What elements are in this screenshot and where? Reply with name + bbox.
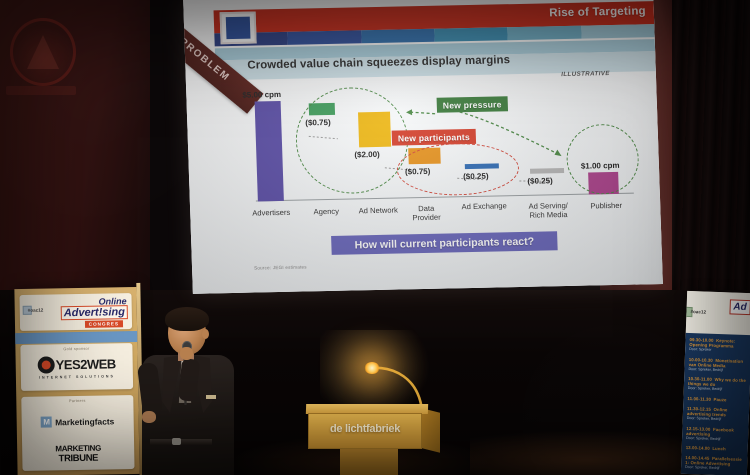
marketingfacts-mark-icon: M [41, 417, 52, 428]
speaker-belt-buckle [172, 438, 181, 445]
slide-cta-bar: How will current participants react? [331, 231, 558, 255]
bar-advertisers [255, 101, 284, 201]
event-logo-line2: Advert!sing [61, 305, 128, 320]
program-item: 10.00-10.30 Monetisation van Online Medi… [688, 357, 748, 373]
speaker-person [136, 303, 240, 475]
speaker-pocket-square [206, 395, 216, 399]
category-ad-exchange: Ad Exchange [456, 201, 512, 211]
program-item: 10.30-11.00 Why we do the things we do D… [688, 376, 748, 392]
podium: de lichtfabriek [306, 404, 446, 475]
venue-wall-logo-icon [10, 18, 76, 86]
label-advertisers-value: $5.00 cpm [242, 90, 281, 100]
program-item: 14.00-14.45 Parallelsessie 1: Online Adv… [685, 455, 745, 471]
category-ad-serving: Ad Serving/ Rich Media [518, 201, 579, 220]
program-item: 11.00-11.30 Pauze [687, 396, 747, 403]
category-data-provider-l2: Provider [412, 213, 441, 223]
program-item: 13.00-14.00 Lunch [686, 445, 746, 452]
program-banner-right: #oac12 Ad 09.30-10.00 Keynote: Opening P… [681, 291, 750, 475]
category-agency: Agency [300, 206, 352, 216]
speaker-ear [202, 329, 209, 339]
program-banner-header: #oac12 Ad [686, 291, 750, 335]
program-logo: Ad [729, 299, 750, 315]
projection-screen: Rise of Targeting Crowded value chain sq… [183, 0, 663, 294]
category-publisher: Publisher [582, 201, 630, 211]
speaker-hair [165, 307, 209, 331]
category-data-provider: Data Provider [402, 203, 451, 222]
program-item: 11.30-12.15 Online advertising trends Do… [687, 406, 747, 422]
speaker-belt [150, 439, 212, 445]
stage-curtain [672, 0, 750, 300]
slide-source: Source: JEGI estimates [254, 264, 307, 270]
event-logo: Online Advert!sing CONGRES [61, 296, 130, 327]
callout-new-pressure: New pressure [437, 96, 508, 112]
slide-cta-text: How will current participants react? [331, 235, 557, 252]
category-ad-serving-l2: Rich Media [529, 210, 567, 220]
sponsor-banner-left: #oac12 Online Advert!sing CONGRES Gold s… [14, 287, 139, 475]
podium-venue-label: de lichtfabriek [309, 423, 421, 435]
program-list: 09.30-10.00 Keynote: Opening Programma D… [684, 337, 749, 475]
yes2web-mark-icon [38, 357, 55, 374]
category-data-provider-l1: Data [418, 204, 434, 213]
slide-illustrative-note: ILLUSTRATIVE [561, 70, 610, 78]
banner-divider [15, 331, 137, 344]
partner-tribune-line2: TRIBUNE [22, 452, 134, 465]
venue-wall-logo-text [6, 86, 76, 95]
label-ad-serving-value: ($0.25) [527, 176, 553, 186]
event-logo-line3: CONGRES [85, 320, 123, 328]
program-banner-body: 09.30-10.00 Keynote: Opening Programma D… [681, 333, 750, 475]
gold-sponsor-tagline: INTERNET SOLUTIONS [21, 374, 133, 380]
partner-marketingfacts-name: Marketingfacts [55, 416, 114, 427]
category-ad-network: Ad Network [346, 205, 410, 215]
marketingfacts-logo: MMarketingfacts [22, 412, 134, 432]
highlight-ellipse-new-participants [396, 142, 520, 197]
podium-base [340, 449, 398, 475]
yes2web-logo: YES2WEB INTERNET SOLUTIONS [21, 355, 133, 380]
conference-stage-photo: Rise of Targeting Crowded value chain sq… [0, 0, 750, 475]
gold-sponsor-name: YES2WEB [56, 357, 116, 373]
waterfall-chart: $5.00 cpm Advertisers ($0.75) Agency ($2… [230, 86, 636, 224]
program-item: 12.15-13.00 Facebook advertising Door: S… [686, 426, 746, 442]
speaker-hand-right [180, 347, 193, 360]
slide-corner-logo [220, 11, 257, 44]
gold-sponsor-card: Gold sponsor YES2WEB INTERNET SOLUTIONS [20, 343, 133, 391]
lamp-bulb-icon [364, 362, 380, 374]
banner-event-card: #oac12 Online Advert!sing CONGRES [19, 293, 132, 331]
event-hashtag: #oac12 [28, 308, 44, 313]
partners-card: Partners MMarketingfacts MARKETING TRIBU… [21, 395, 134, 471]
program-item: 09.30-10.00 Keynote: Opening Programma D… [689, 337, 749, 353]
callout-new-participants: New participants [392, 129, 476, 146]
bar-ad-serving [530, 168, 564, 174]
podium-front-panel: de lichtfabriek [308, 413, 422, 449]
gold-sponsor-label: Gold sponsor [20, 346, 132, 352]
highlight-ellipse-new-pressure-right [566, 124, 640, 195]
partners-label: Partners [21, 398, 133, 404]
slide-header-title: Rise of Targeting [549, 5, 646, 19]
marketing-tribune-logo: MARKETING TRIBUNE [22, 443, 134, 465]
category-advertisers: Advertisers [239, 208, 303, 218]
program-hashtag: #oac12 [690, 309, 706, 315]
slide: Rise of Targeting Crowded value chain sq… [183, 0, 663, 294]
speaker-hand-left [142, 411, 156, 423]
